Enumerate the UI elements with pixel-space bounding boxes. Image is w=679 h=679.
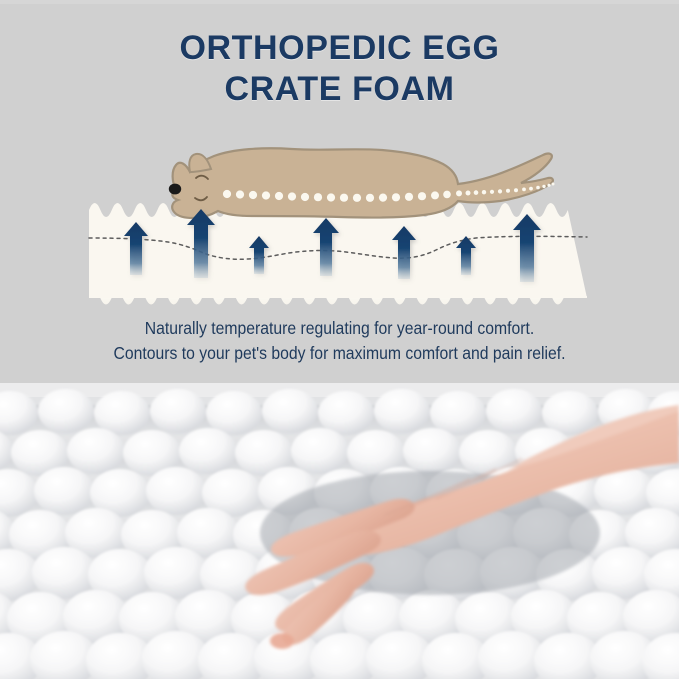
feature-captions: Naturally temperature regulating for yea… bbox=[0, 316, 679, 366]
foam-photo-panel bbox=[0, 383, 679, 679]
dog-nose bbox=[169, 184, 181, 195]
top-edge-hairline bbox=[0, 0, 679, 4]
page-title: ORTHOPEDIC EGG CRATE FOAM bbox=[0, 28, 679, 110]
dog-ear bbox=[189, 154, 211, 172]
foam-support-diagram bbox=[0, 126, 679, 316]
title-line-2: CRATE FOAM bbox=[0, 69, 679, 110]
sleeping-dog bbox=[169, 148, 555, 218]
product-infographic: ORTHOPEDIC EGG CRATE FOAM bbox=[0, 0, 679, 679]
fingertip-highlight bbox=[270, 633, 294, 649]
illustration-panel: ORTHOPEDIC EGG CRATE FOAM bbox=[0, 0, 679, 384]
hand-pressing-foam-photo bbox=[0, 383, 679, 679]
dog-body bbox=[172, 148, 553, 218]
caption-line-1: Naturally temperature regulating for yea… bbox=[34, 316, 645, 341]
title-line-1: ORTHOPEDIC EGG bbox=[0, 28, 679, 69]
caption-line-2: Contours to your pet's body for maximum … bbox=[34, 341, 645, 366]
